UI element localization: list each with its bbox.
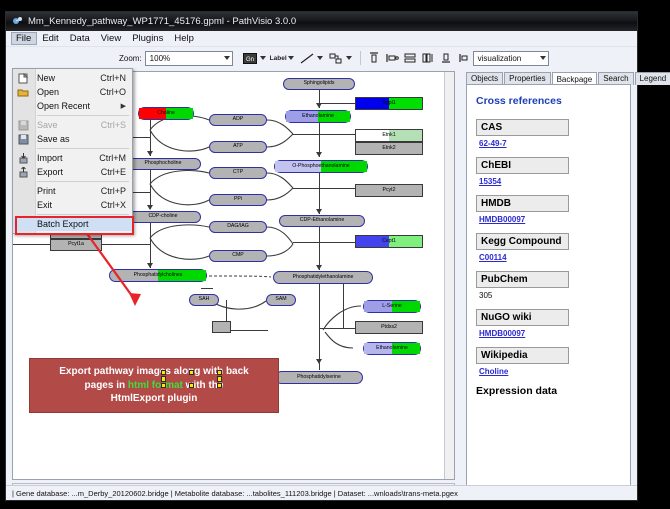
pathway-node-cdp-choline[interactable]: CDP-choline	[125, 211, 201, 223]
pathway-node-ctp[interactable]: CTP	[209, 167, 267, 179]
menu-item-label: Exit	[37, 200, 52, 210]
menu-help[interactable]: Help	[169, 32, 200, 45]
menu-item-accel: Ctrl+M	[99, 153, 132, 163]
menu-view[interactable]: View	[96, 32, 127, 45]
cross-reference-link[interactable]: Choline	[479, 367, 621, 376]
cross-reference-link[interactable]: HMDB00097	[479, 329, 621, 338]
node-label: CTP	[233, 170, 243, 175]
node-label: Cept1	[382, 239, 396, 244]
cross-reference-label: CAS	[476, 119, 569, 136]
group-icon[interactable]	[456, 50, 472, 66]
selection-handle[interactable]	[189, 370, 195, 376]
pathway-node-sphingolipids[interactable]: Sphingolipids	[283, 78, 355, 90]
pathway-node-cmp[interactable]: CMP	[209, 250, 267, 262]
node-label: Ethanolamine	[376, 346, 408, 351]
side-panel: Objects Properties Backpage Search Legen…	[458, 68, 637, 500]
menu-edit[interactable]: Edit	[37, 32, 64, 45]
pathway-node-cdp-etn[interactable]: CDP-Ethanolamine	[279, 215, 365, 227]
selection-handle[interactable]	[189, 383, 195, 389]
batch-export-highlight-box	[15, 216, 134, 235]
annotation-line3: HtmlExport plugin	[111, 393, 198, 404]
pathvisio-app-icon	[12, 16, 23, 27]
toolbar: Zoom: 100% Gn Label	[6, 47, 637, 70]
edge	[201, 288, 213, 289]
node-label: PPi	[234, 197, 242, 202]
align-top-icon[interactable]	[366, 50, 382, 66]
pathway-node-atp[interactable]: ATP	[209, 141, 267, 153]
datanode-button[interactable]: Gn	[242, 50, 258, 66]
menu-item-new[interactable]: New Ctrl+N	[13, 71, 132, 85]
menu-item-label: Save as	[37, 134, 70, 144]
selection-handle[interactable]	[161, 370, 167, 376]
cross-reference-label: ChEBI	[476, 157, 569, 174]
cross-reference-label: PubChem	[476, 271, 569, 288]
pathway-node-etnk1[interactable]: Etnk1	[355, 129, 423, 142]
edge	[319, 227, 320, 270]
cross-reference-row: WikipediaCholine	[476, 347, 621, 376]
cross-reference-row: NuGO wikiHMDB00097	[476, 309, 621, 338]
edge	[226, 330, 268, 331]
pathvisio-window: Mm_Kennedy_pathway_WP1771_45176.gpml - P…	[5, 11, 638, 501]
pathway-node-cept1[interactable]: Cept1	[355, 235, 423, 248]
selection-handle[interactable]	[217, 370, 223, 376]
line-dropdown-arrow[interactable]	[317, 56, 323, 60]
menu-separator	[37, 115, 129, 116]
menu-item-accel: Ctrl+E	[101, 167, 132, 177]
node-label: Pcyt1a	[68, 242, 84, 247]
annotation-callout: Export pathway images along with back pa…	[29, 358, 279, 413]
menu-plugins[interactable]: Plugins	[127, 32, 169, 45]
pathway-node-sam[interactable]: SAM	[266, 294, 296, 306]
shape-button[interactable]	[328, 50, 344, 66]
node-label: Choline	[157, 111, 175, 116]
label-dropdown-arrow[interactable]	[288, 56, 294, 60]
cross-reference-link[interactable]: HMDB00097	[479, 215, 621, 224]
backpage-panel: Cross references CAS62-49-7ChEBI15354HMD…	[466, 84, 631, 495]
toolbar-separator	[360, 51, 361, 65]
node-label: L-Serine	[382, 304, 402, 309]
pathway-node-ethanolamine2[interactable]: Ethanolamine	[363, 342, 421, 355]
status-text: | Gene database: ...m_Derby_20120602.bri…	[12, 489, 458, 498]
node-label: CDP-Ethanolamine	[300, 218, 344, 223]
menu-item-label: Open	[37, 87, 59, 97]
cross-reference-value: 305	[479, 291, 621, 300]
annotation-line2-a: pages in	[85, 380, 128, 391]
menu-item-accel: Ctrl+P	[101, 186, 132, 196]
menu-item-import[interactable]: Import Ctrl+M	[13, 151, 132, 165]
menu-item-accel: Ctrl+S	[101, 120, 132, 130]
node-label: Pcyt2	[383, 188, 396, 193]
menu-item-export[interactable]: Export Ctrl+E	[13, 165, 132, 179]
edge	[343, 284, 344, 328]
expression-data-heading: Expression data	[476, 385, 621, 397]
window-body: CholineADPATPPhosphocholineCTPPPiCDP-cho…	[6, 68, 637, 500]
pathway-node-choline[interactable]: Choline	[138, 107, 194, 120]
shape-dropdown-arrow[interactable]	[346, 56, 352, 60]
annotation-highlight: html format	[128, 380, 183, 391]
node-label: Sphingolipids	[304, 81, 335, 86]
save-icon	[17, 120, 30, 131]
pathway-node-ps[interactable]: Phosphatidylserine	[275, 371, 363, 384]
menu-file[interactable]: File	[11, 32, 37, 45]
align-left-icon[interactable]	[384, 50, 400, 66]
menu-separator	[37, 214, 129, 215]
backpage-heading: Cross references	[476, 95, 621, 107]
menu-item-save-as[interactable]: Save as	[13, 132, 132, 146]
visualization-value: visualization	[478, 54, 522, 63]
arrow-icon	[316, 359, 322, 364]
node-label: CMP	[232, 253, 244, 258]
cross-reference-label: HMDB	[476, 195, 569, 212]
export-icon	[17, 167, 30, 178]
import-icon	[17, 153, 30, 164]
new-file-icon	[17, 73, 30, 84]
zoom-combobox[interactable]: 100%	[145, 51, 233, 66]
pathway-node-pc[interactable]: Phosphatidylcholines	[109, 269, 207, 282]
cross-reference-row: Kegg CompoundC00114	[476, 233, 621, 262]
arrow-icon	[316, 265, 322, 270]
edge	[319, 173, 320, 214]
cross-reference-label: NuGO wiki	[476, 309, 569, 326]
cross-reference-label: Kegg Compound	[476, 233, 569, 250]
node-label: CDP-choline	[148, 214, 177, 219]
datanode-dropdown-arrow[interactable]	[260, 56, 266, 60]
menu-item-open[interactable]: Open Ctrl+O	[13, 85, 132, 99]
cross-reference-row: CAS62-49-7	[476, 119, 621, 148]
menu-bar: File Edit Data View Plugins Help	[6, 31, 637, 47]
cross-reference-link[interactable]: 62-49-7	[479, 139, 621, 148]
menu-separator	[37, 148, 129, 149]
menu-item-exit[interactable]: Exit Ctrl+X	[13, 198, 132, 212]
pathway-node-pe[interactable]: Phosphatidylethanolamine	[273, 271, 373, 284]
pathway-node-ptdss2[interactable]: Ptdss2	[355, 321, 423, 334]
menu-item-label: Import	[37, 153, 63, 163]
menu-item-label: Print	[37, 186, 56, 196]
arrow-icon	[316, 152, 322, 157]
editor-pane: CholineADPATPPhosphocholineCTPPPiCDP-cho…	[6, 68, 458, 500]
pathway-node-phosphocholine[interactable]: Phosphocholine	[125, 158, 201, 170]
menu-item-label: New	[37, 73, 55, 83]
pathway-node-ethanolamine1[interactable]: Ethanolamine	[285, 110, 351, 123]
edge	[293, 188, 355, 189]
node-label: DAG/IAG	[227, 224, 249, 229]
pathway-node-ppi[interactable]: PPi	[209, 194, 267, 206]
align-bottom-icon[interactable]	[438, 50, 454, 66]
menu-item-accel: Ctrl+O	[100, 87, 132, 97]
menu-separator	[37, 181, 129, 182]
node-label: Etnk2	[382, 146, 395, 151]
node-label: O-Phosphoethanolamine	[292, 164, 349, 169]
svg-text:Gn: Gn	[246, 57, 254, 63]
arrow-icon	[316, 209, 322, 214]
node-label: Phosphocholine	[145, 161, 182, 166]
menu-item-save: Save Ctrl+S	[13, 118, 132, 132]
node-label: Phosphatidylcholines	[134, 273, 183, 278]
menu-data[interactable]: Data	[65, 32, 96, 45]
status-bar: | Gene database: ...m_Derby_20120602.bri…	[6, 485, 637, 500]
menu-item-accel: Ctrl+X	[101, 200, 132, 210]
file-menu-popup[interactable]: New Ctrl+N Open Ctrl+O Open Recent ▶	[12, 68, 133, 234]
pathway-node-sah[interactable]: SAH	[189, 294, 219, 306]
menu-item-label: Save	[37, 120, 58, 130]
menu-item-open-recent[interactable]: Open Recent ▶	[13, 99, 132, 113]
pathway-node-pcyt2[interactable]: Pcyt2	[355, 184, 423, 197]
node-label: SAM	[275, 297, 286, 302]
submenu-arrow-icon: ▶	[121, 102, 132, 110]
menu-item-accel: Ctrl+N	[100, 73, 132, 83]
pathway-node-l-serine[interactable]: L-Serine	[363, 300, 421, 313]
cross-reference-link[interactable]: C00114	[479, 253, 621, 262]
node-label: SAH	[199, 297, 210, 302]
selection-handle[interactable]	[161, 383, 167, 389]
visualization-combobox[interactable]: visualization	[473, 51, 549, 66]
open-folder-icon	[17, 87, 30, 98]
chevron-down-icon	[540, 56, 546, 60]
menu-item-label: Export	[37, 167, 63, 177]
selection-handle[interactable]	[217, 376, 223, 382]
edge	[293, 242, 355, 243]
menu-item-label: Open Recent	[37, 101, 90, 111]
pathway-node-sgpl1[interactable]: Sgpl1	[355, 97, 423, 110]
pathway-node-group[interactable]	[212, 321, 231, 333]
menu-item-print[interactable]: Print Ctrl+P	[13, 184, 132, 198]
cross-reference-label: Wikipedia	[476, 347, 569, 364]
node-label: Phosphatidylethanolamine	[293, 275, 354, 280]
selection-handle[interactable]	[161, 376, 167, 382]
zoom-label: Zoom:	[119, 54, 142, 63]
tab-legend[interactable]: Legend	[635, 72, 670, 85]
node-label: Etnk1	[382, 133, 395, 138]
save-as-icon	[17, 134, 30, 145]
cross-reference-list: CAS62-49-7ChEBI15354HMDBHMDB00097Kegg Co…	[476, 119, 621, 376]
cross-reference-row: HMDBHMDB00097	[476, 195, 621, 224]
pathway-node-dag-iag[interactable]: DAG/IAG	[209, 221, 267, 233]
selection-handle[interactable]	[217, 383, 223, 389]
pathway-node-etnk2[interactable]: Etnk2	[355, 142, 423, 155]
pathway-node-pcyt1a[interactable]: Pcyt1a	[50, 239, 102, 251]
edge	[319, 328, 355, 329]
line-button[interactable]	[299, 50, 315, 66]
node-label: Phosphatidylserine	[297, 375, 341, 380]
stack-columns-icon[interactable]	[420, 50, 436, 66]
node-label: Sgpl1	[382, 101, 395, 106]
node-label: ADP	[233, 117, 244, 122]
edge	[319, 103, 355, 104]
cross-reference-row: PubChem305	[476, 271, 621, 300]
label-button-text[interactable]: Label	[270, 55, 287, 62]
title-bar: Mm_Kennedy_pathway_WP1771_45176.gpml - P…	[6, 12, 637, 31]
cross-reference-row: ChEBI15354	[476, 157, 621, 186]
zoom-value: 100%	[150, 54, 170, 63]
window-title: Mm_Kennedy_pathway_WP1771_45176.gpml - P…	[28, 16, 296, 27]
node-label: ATP	[233, 144, 243, 149]
edge	[319, 284, 320, 370]
node-label: Ptdss2	[381, 325, 397, 330]
pathway-node-adp[interactable]: ADP	[209, 114, 267, 126]
screenshot-frame: Mm_Kennedy_pathway_WP1771_45176.gpml - P…	[0, 0, 670, 509]
align-vertical-icon[interactable]	[402, 50, 418, 66]
edge	[293, 134, 355, 135]
node-label: Ethanolamine	[302, 114, 334, 119]
pathway-node-o-phospho[interactable]: O-Phosphoethanolamine	[274, 160, 368, 173]
cross-reference-link[interactable]: 15354	[479, 177, 621, 186]
chevron-down-icon	[224, 56, 230, 60]
